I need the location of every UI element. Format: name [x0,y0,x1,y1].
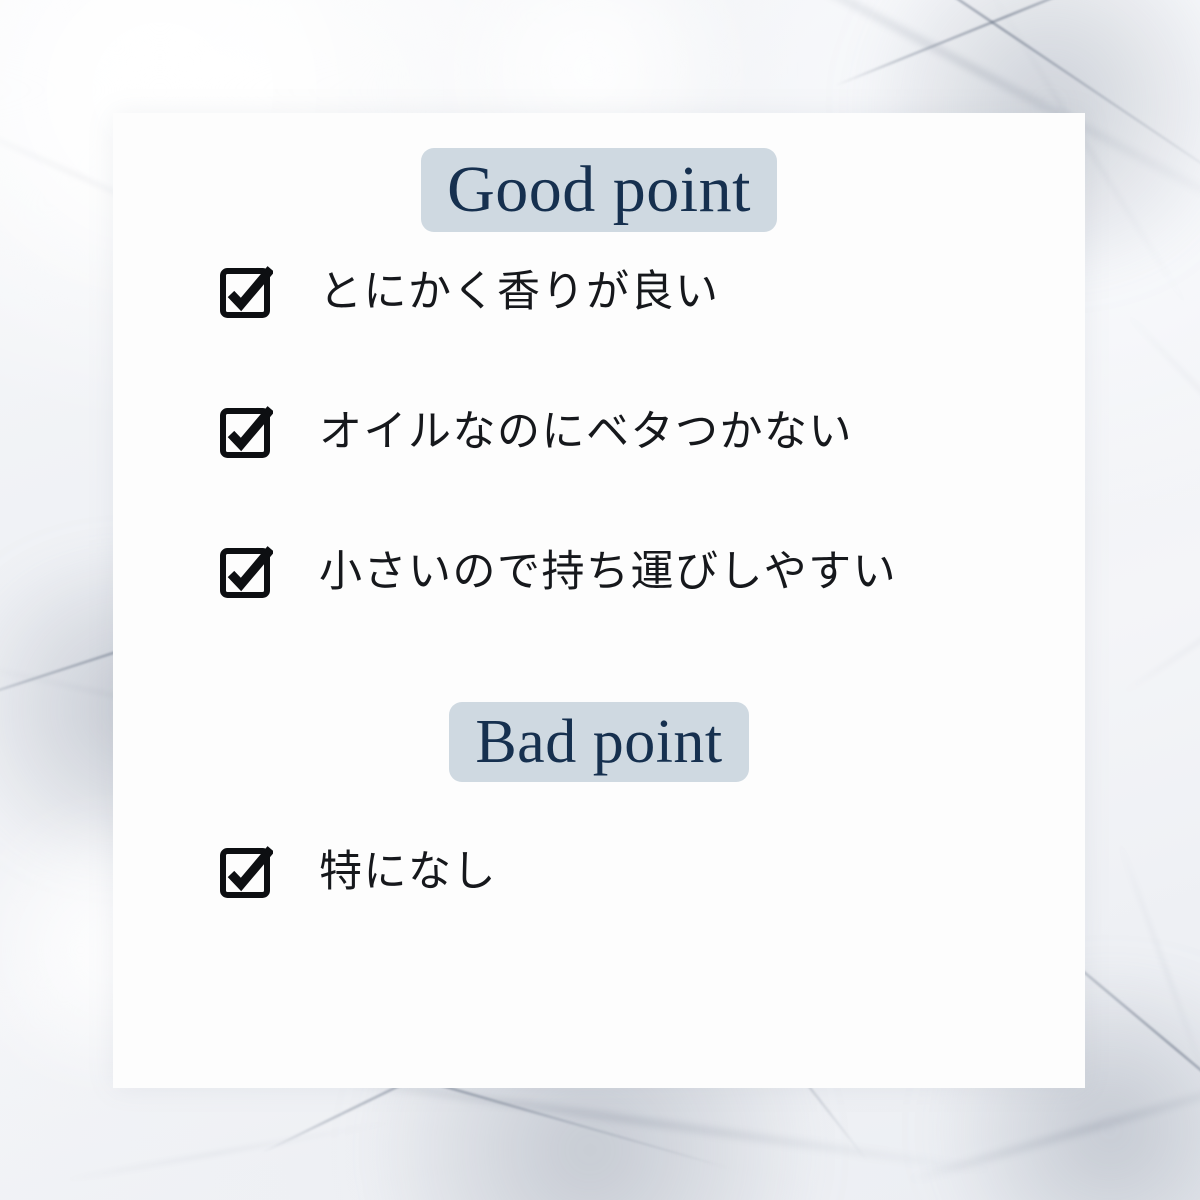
checked-checkbox-icon[interactable] [217,845,273,901]
section-heading-badge: Good point [421,148,777,232]
list-item-label: 特になし [319,849,497,896]
list-item-label: 小さいので持ち運びしやすい [319,549,897,596]
list-item[interactable]: 小さいので持ち運びしやすい [217,545,897,601]
checked-checkbox-icon[interactable] [217,405,273,461]
checked-checkbox-icon[interactable] [217,265,273,321]
list-item-label: とにかく香りが良い [319,269,720,316]
list-item[interactable]: オイルなのにベタつかない [217,405,853,461]
list-item-label: オイルなのにベタつかない [319,409,853,456]
list-item[interactable]: とにかく香りが良い [217,265,720,321]
checked-checkbox-icon[interactable] [217,545,273,601]
section-heading-good: Good point [113,148,1085,232]
section-heading-badge: Bad point [449,702,748,782]
section-heading-bad: Bad point [113,702,1085,782]
content-card: Good point とにかく香りが良い オイルなのにベタつかない [113,113,1085,1088]
slide-canvas: Good point とにかく香りが良い オイルなのにベタつかない [0,0,1200,1200]
list-item[interactable]: 特になし [217,845,497,901]
